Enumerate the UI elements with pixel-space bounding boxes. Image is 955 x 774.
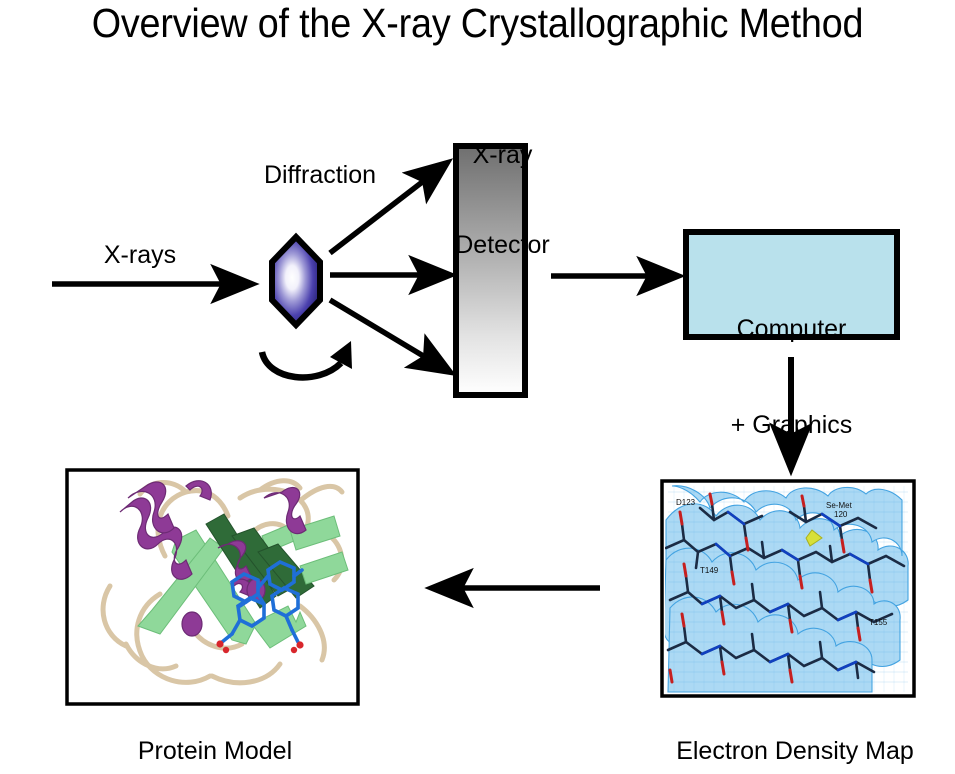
caption-electron-density-map: Electron Density Map	[640, 736, 950, 766]
caption-protein-model: Protein Model	[60, 736, 370, 766]
label-x-ray-detector-line2: Detector	[415, 230, 590, 260]
svg-text:T149: T149	[700, 566, 719, 575]
label-xrays: X-rays	[60, 240, 220, 270]
arrow-crystal-rotation	[262, 341, 352, 377]
crystal	[272, 237, 320, 325]
label-computer-line1: Computer	[689, 313, 894, 345]
label-diffraction: Diffraction	[240, 160, 400, 190]
protein-model-image	[67, 470, 358, 704]
label-x-ray-detector-line1: X-ray	[415, 140, 590, 170]
electron-density-map-image: D123 Se-Met 120 T149 T155	[662, 481, 914, 696]
label-computer-graphics: Computer + Graphics	[689, 249, 894, 505]
svg-text:T155: T155	[869, 618, 888, 627]
label-computer-line2: + Graphics	[689, 409, 894, 441]
label-x-ray-detector: X-ray Detector	[415, 80, 590, 320]
svg-text:120: 120	[834, 510, 848, 519]
figure-canvas: Overview of the X-ray Crystallographic M…	[0, 0, 955, 774]
